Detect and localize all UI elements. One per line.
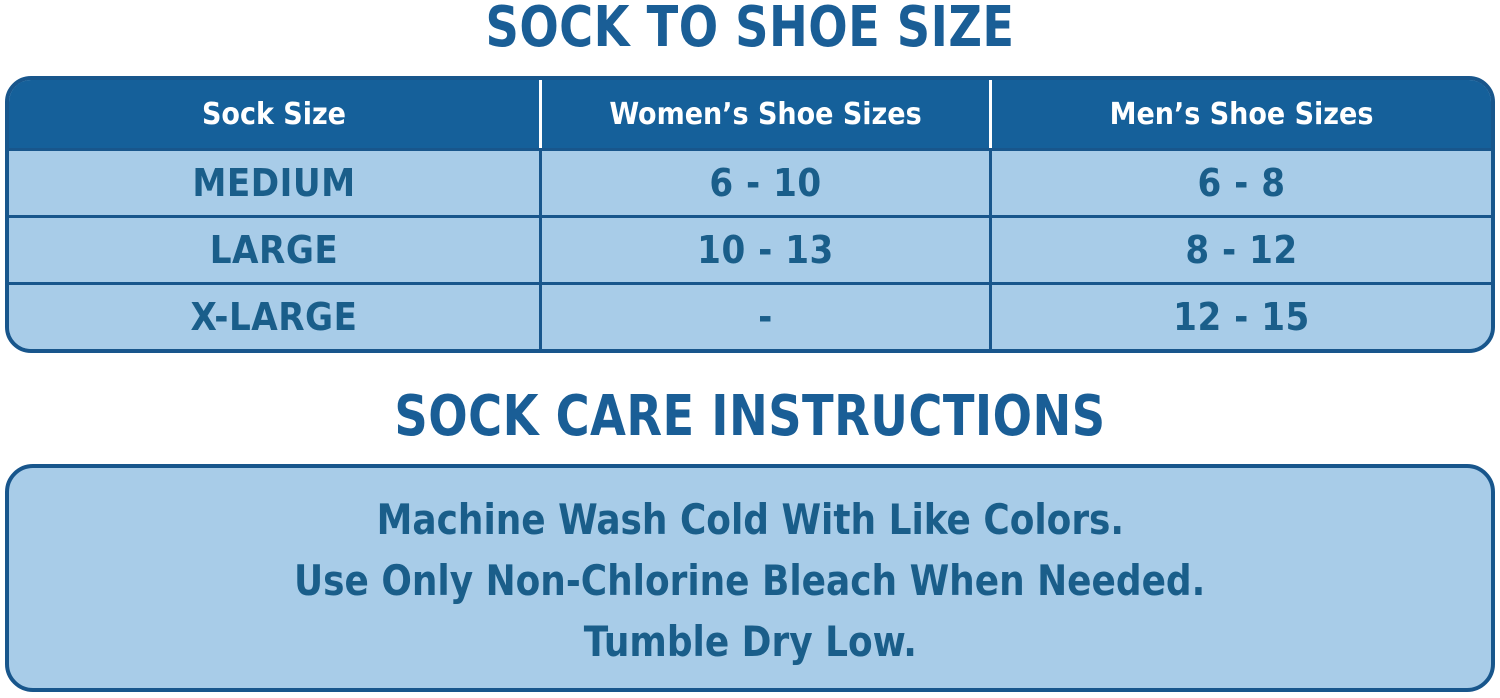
size-chart-page: SOCK TO SHOE SIZE Sock Size Women’s Shoe… [0, 0, 1500, 698]
cell-mens-shoe-size: 8 - 12 [989, 218, 1491, 282]
column-header-mens-shoe-sizes: Men’s Shoe Sizes [989, 80, 1491, 148]
sock-care-instructions-box: Machine Wash Cold With Like Colors. Use … [5, 464, 1495, 692]
cell-womens-shoe-size: 6 - 10 [539, 151, 989, 215]
column-header-sock-size: Sock Size [9, 80, 539, 148]
table-row: LARGE 10 - 13 8 - 12 [9, 215, 1491, 282]
table-header-row: Sock Size Women’s Shoe Sizes Men’s Shoe … [9, 80, 1491, 148]
care-instruction-line: Tumble Dry Low. [583, 611, 916, 672]
care-instruction-line: Use Only Non-Chlorine Bleach When Needed… [294, 550, 1205, 611]
cell-womens-shoe-size: - [539, 285, 989, 349]
page-title-sock-care-instructions: SOCK CARE INSTRUCTIONS [60, 385, 1440, 449]
cell-sock-size: MEDIUM [9, 151, 539, 215]
table-row: MEDIUM 6 - 10 6 - 8 [9, 148, 1491, 215]
cell-mens-shoe-size: 6 - 8 [989, 151, 1491, 215]
sock-to-shoe-size-table: Sock Size Women’s Shoe Sizes Men’s Shoe … [5, 76, 1495, 353]
cell-mens-shoe-size: 12 - 15 [989, 285, 1491, 349]
column-header-womens-shoe-sizes: Women’s Shoe Sizes [539, 80, 989, 148]
cell-sock-size: LARGE [9, 218, 539, 282]
table-row: X-LARGE - 12 - 15 [9, 282, 1491, 349]
cell-womens-shoe-size: 10 - 13 [539, 218, 989, 282]
cell-sock-size: X-LARGE [9, 285, 539, 349]
care-instruction-line: Machine Wash Cold With Like Colors. [376, 489, 1123, 550]
page-title-sock-to-shoe-size: SOCK TO SHOE SIZE [60, 0, 1440, 60]
